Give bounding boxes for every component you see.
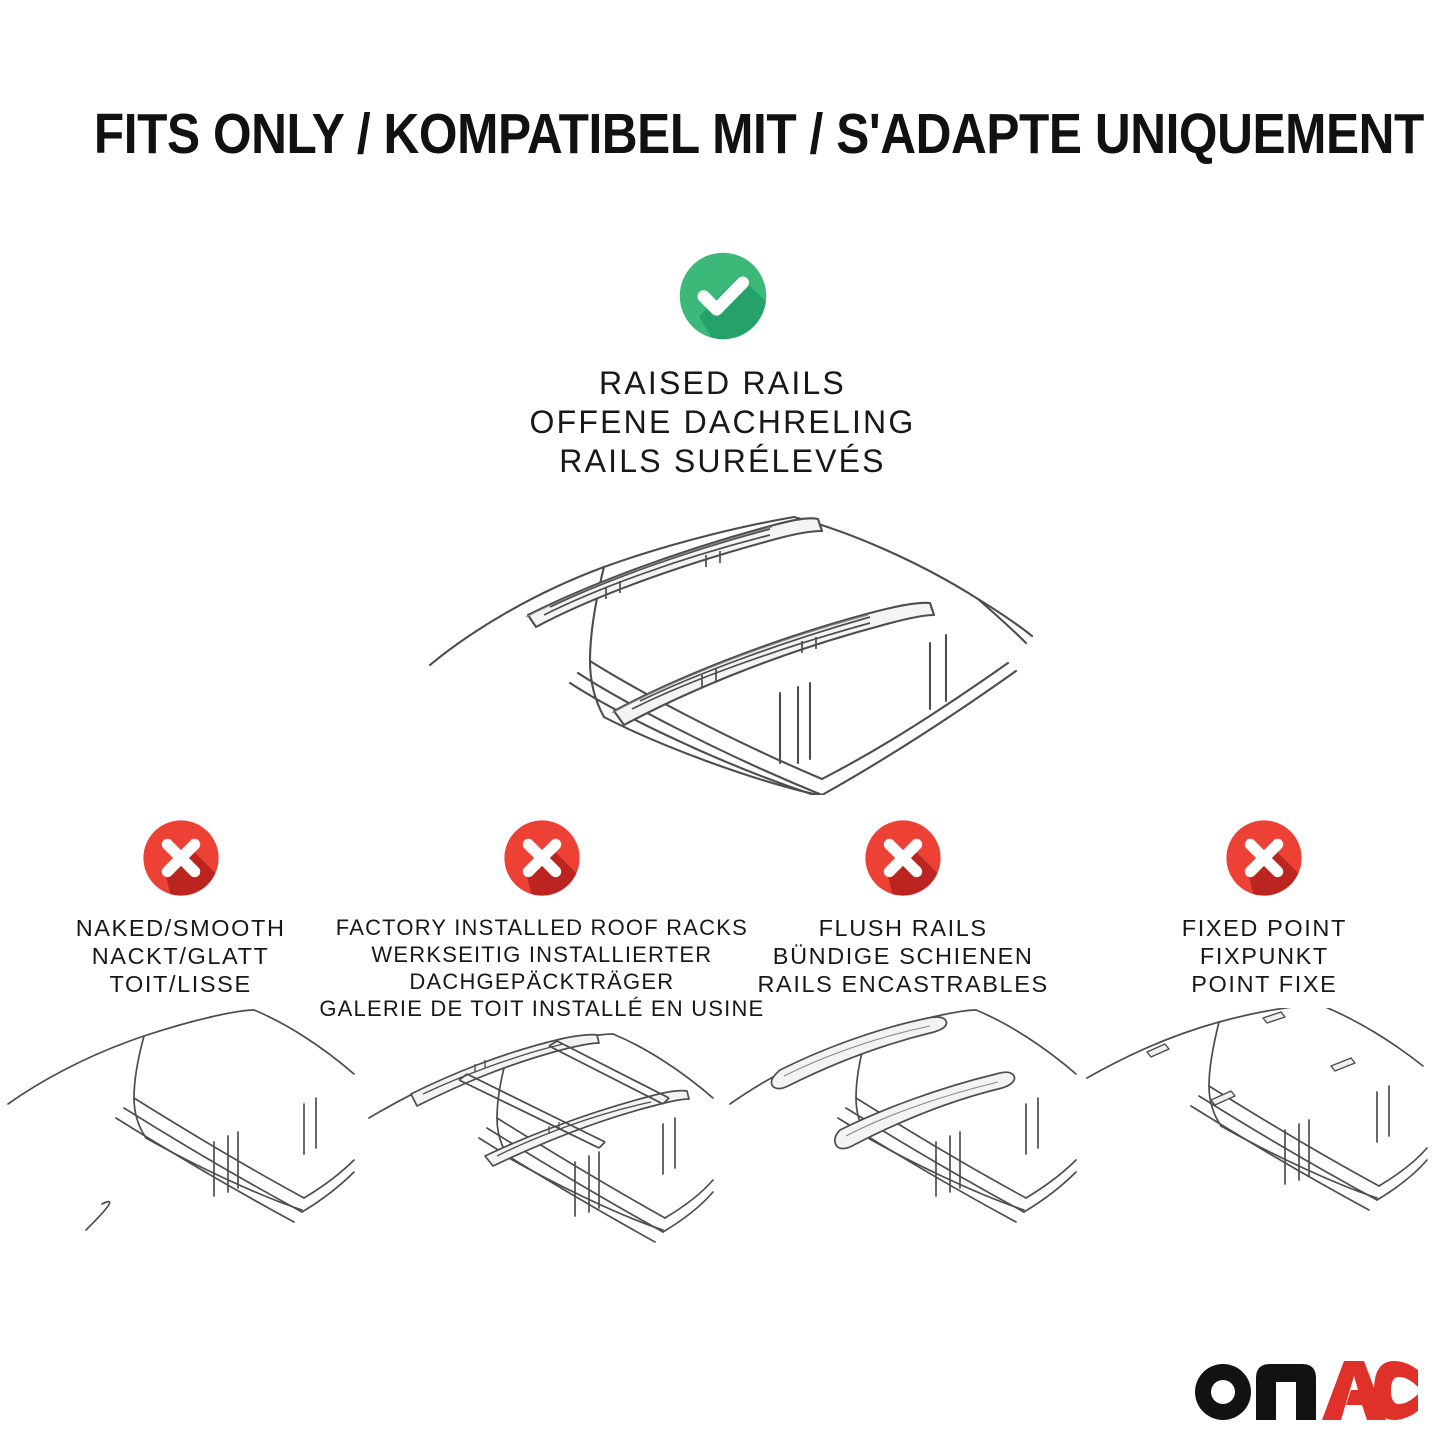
cross-circle-icon [502,818,582,898]
option-naked-smooth: NAKED/SMOOTH NACKT/GLATT TOIT/LISSE [0,818,361,1282]
cross-circle-icon [1224,818,1304,898]
option-label-en: FIXED POINT [1182,914,1347,942]
option-labels-flush-rails: FLUSH RAILS BÜNDIGE SCHIENEN RAILS ENCAS… [757,914,1048,998]
option-label-de-2: DACHGEPÄCKTRÄGER [319,968,764,995]
compatible-label-en: RAISED RAILS [0,364,1445,403]
incompatible-options-row: NAKED/SMOOTH NACKT/GLATT TOIT/LISSE [0,818,1445,1282]
logo-letter-o [1195,1364,1251,1420]
option-label-fr: GALERIE DE TOIT INSTALLÉ EN USINE [319,995,764,1022]
compatible-section: RAISED RAILS OFFENE DACHRELING RAILS SUR… [0,250,1445,481]
compatible-labels: RAISED RAILS OFFENE DACHRELING RAILS SUR… [0,364,1445,481]
logo-letter-m [1256,1364,1316,1420]
option-label-en: NAKED/SMOOTH [76,914,286,942]
option-label-de: NACKT/GLATT [76,942,286,970]
option-flush-rails: FLUSH RAILS BÜNDIGE SCHIENEN RAILS ENCAS… [723,818,1084,1282]
logo-letter-c [1374,1361,1418,1420]
cross-circle-icon [863,818,943,898]
option-labels-factory-roof-racks: FACTORY INSTALLED ROOF RACKS WERKSEITIG … [319,914,764,1022]
option-label-en: FACTORY INSTALLED ROOF RACKS [319,914,764,941]
option-label-fr: RAILS ENCASTRABLES [757,970,1048,998]
option-fixed-point: FIXED POINT FIXPUNKT POINT FIXE [1084,818,1445,1282]
option-label-fr: TOIT/LISSE [76,970,286,998]
option-label-de-1: WERKSEITIG INSTALLIERTER [319,941,764,968]
option-label-en: FLUSH RAILS [757,914,1048,942]
option-labels-naked-smooth: NAKED/SMOOTH NACKT/GLATT TOIT/LISSE [76,914,286,998]
compatible-label-de: OFFENE DACHRELING [0,403,1445,442]
check-circle-icon [677,250,769,342]
option-labels-fixed-point: FIXED POINT FIXPUNKT POINT FIXE [1182,914,1347,998]
car-roof-fixed-point-illustration [1085,1008,1443,1258]
cross-circle-icon [141,818,221,898]
option-label-de: FIXPUNKT [1182,942,1347,970]
car-roof-flush-rails-illustration [724,1008,1082,1258]
car-roof-raised-rails-illustration [418,495,1038,795]
omac-logo: OMAC [1192,1356,1418,1422]
car-roof-factory-roof-racks-illustration [363,1032,721,1282]
option-label-fr: POINT FIXE [1182,970,1347,998]
option-factory-roof-racks: FACTORY INSTALLED ROOF RACKS WERKSEITIG … [361,818,722,1282]
option-label-de: BÜNDIGE SCHIENEN [757,942,1048,970]
car-roof-naked-smooth-illustration [2,1008,360,1258]
logo-text: OMAC [1192,1356,1240,1360]
page-title: FITS ONLY / KOMPATIBEL MIT / S'ADAPTE UN… [94,103,1351,165]
compatible-label-fr: RAILS SURÉLEVÉS [0,442,1445,481]
